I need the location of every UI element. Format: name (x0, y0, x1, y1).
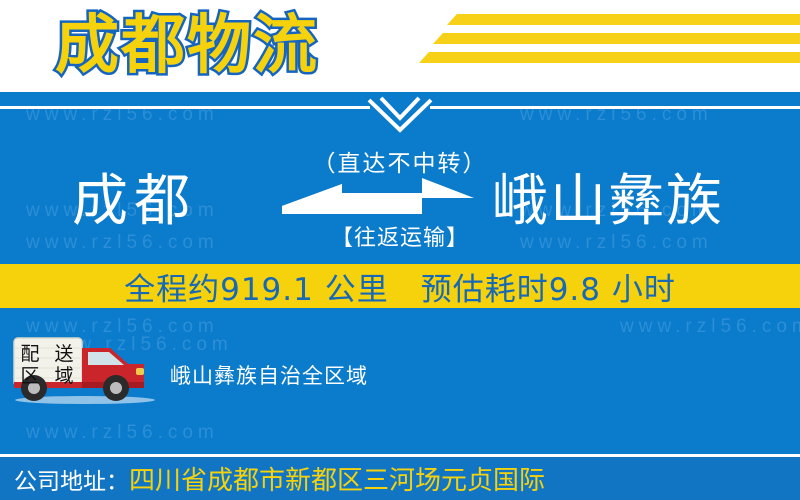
truck-box-char-1: 配 (20, 343, 39, 365)
decorative-stripes (405, 14, 800, 76)
double-arrow-icon (282, 176, 474, 216)
stripe-2 (433, 33, 800, 44)
address-value: 四川省成都市新都区三河场元贞国际 (129, 460, 545, 497)
watermark: www.rzl56.com (26, 422, 219, 444)
truck-box-char-3: 区 (20, 365, 39, 387)
stats-summary: 全程约919.1 公里 预估耗时9.8 小时 (124, 264, 676, 309)
double-chevron-down-icon (365, 96, 435, 136)
main-blue-panel: www.rzl56.com www.rzl56.com www.rzl56.co… (0, 92, 800, 500)
watermark: www.rzl56.com (620, 316, 800, 338)
divider-left (0, 106, 370, 109)
header-banner: 成都物流 (0, 0, 800, 92)
divider-right (430, 106, 800, 109)
delivery-truck-icon: 配 送 区 域 (10, 332, 160, 404)
delivery-area-label: 峨山彝族自治全区域 (170, 360, 368, 390)
stats-band: 全程约919.1 公里 预估耗时9.8 小时 (0, 264, 800, 308)
logistics-poster: 成都物流 www.rzl56.com www.rzl56.com www.rzl… (0, 0, 800, 500)
page-title: 成都物流 (55, 4, 319, 88)
truck-box-char-4: 域 (54, 365, 73, 387)
roundtrip-note: 【往返运输】 (0, 220, 800, 252)
company-address-bar: 公司地址： 四川省成都市新都区三河场元贞国际 (0, 457, 800, 500)
stripe-1 (447, 14, 800, 25)
address-label: 公司地址： (14, 462, 129, 496)
stripe-3 (419, 52, 800, 63)
truck-box-char-2: 送 (54, 343, 73, 365)
